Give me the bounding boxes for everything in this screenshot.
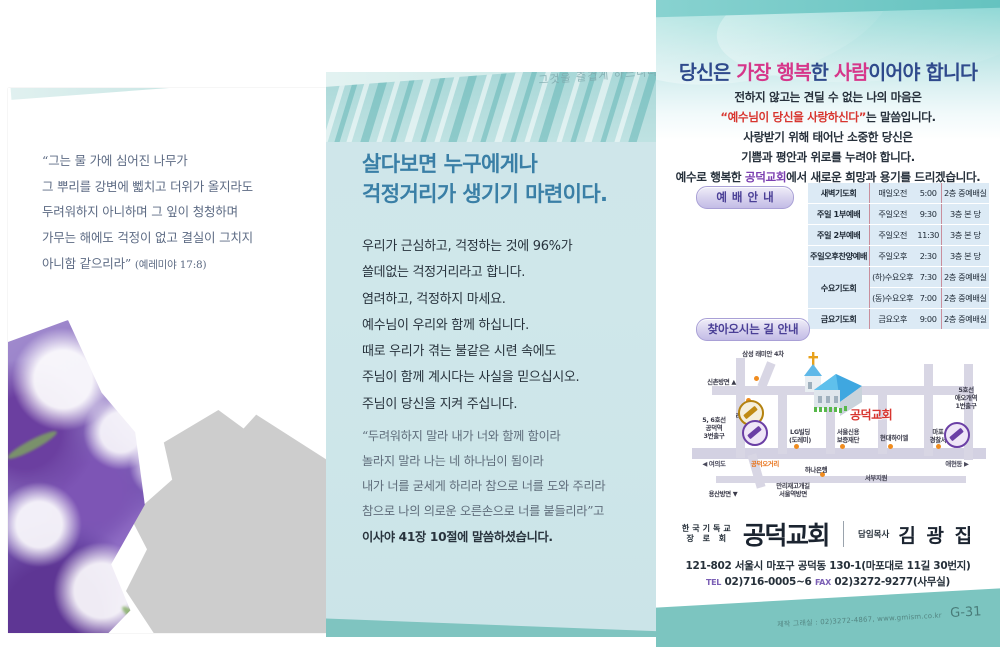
cell-day: 매일오전 [870, 183, 916, 204]
cell-name: 금요기도회 [808, 309, 870, 330]
cell-day: 주일오전 [870, 204, 916, 225]
map-label-credit-guarantee: 서울신용 보증재단 [826, 428, 870, 444]
church-identity-line: 한국기독교 장 로 회 공덕교회 담임목사 김 광 집 [656, 516, 1000, 552]
subway-aeogae-icon [944, 422, 970, 448]
center-bottom-teal-band [326, 618, 656, 637]
church-name: 공덕교회 [743, 516, 829, 552]
center-body-text: 우리가 근심하고, 걱정하는 것에 96%가 쓸데없는 걱정거리라고 합니다. … [362, 234, 648, 418]
cell-name: 주일오후찬양예배 [808, 246, 870, 267]
quote-line: “두려워하지 말라 내가 너와 함께 함이라 [362, 424, 652, 449]
body-line: 우리가 근심하고, 걱정하는 것에 96%가 [362, 234, 648, 260]
subway-line6-icon [742, 420, 768, 446]
map-label-malli: 만리재고개길 서울역방면 [762, 482, 824, 498]
cell-place: 3층 본 당 [941, 204, 988, 225]
verse-line: “그는 물 가에 심어진 나무가 [42, 148, 304, 174]
map-dot [840, 444, 845, 449]
cell-place: 2층 중예배실 [941, 288, 988, 309]
isaiah-quote: “두려워하지 말라 내가 너와 함께 함이라 놀라지 말라 나는 네 하나님이 … [362, 424, 652, 550]
road-diagonal [757, 361, 775, 388]
cell-time: 9:30 [915, 204, 941, 225]
cell-name: 수요기도회 [808, 267, 870, 309]
title-part-1: 당신은 [679, 61, 736, 84]
map-label-aehyeon: 애현동 ▶ [932, 460, 982, 468]
lede-quote-rest: 는 말씀입니다. [866, 110, 936, 124]
cell-time: 9:00 [915, 309, 941, 330]
quote-line: 참으로 나의 의로운 오른손으로 너를 붙들리라”고 [362, 499, 652, 524]
cell-day: (하)수요오후 [870, 267, 916, 288]
cell-place: 2층 중예배실 [941, 183, 988, 204]
left-panel: “그는 물 가에 심어진 나무가 그 뿌리를 강변에 뻷치고 더위가 올지라도 … [8, 88, 326, 633]
map-label-lg: LG빌딩 (도레미) [780, 428, 820, 444]
map-church-label: 공덕교회 [850, 406, 892, 423]
map-badge: 찾아오시는 길 안내 [696, 318, 810, 341]
verse-line-last: 아니함 같으리라” (예레미야 17:8) [42, 251, 304, 277]
cell-name: 주일 1부예배 [808, 204, 870, 225]
cell-time: 5:00 [915, 183, 941, 204]
jeremiah-verse: “그는 물 가에 심어진 나무가 그 뿌리를 강변에 뻷치고 더위가 올지라도 … [42, 148, 304, 276]
center-panel: 그것을 즐겁게 하느니라 살다보면 누구에게나 걱정거리가 생기기 마련이다. … [326, 72, 656, 637]
map-label-gongdeok-station: 5, 6호선 공덕역 3번출구 [692, 416, 738, 440]
cell-time: 11:30 [915, 225, 941, 246]
map-label-yongsan: 용산방면 ▼ [698, 490, 748, 498]
fax-label: FAX [815, 578, 831, 587]
headline-line-1: 살다보면 누구에게나 [362, 150, 642, 180]
road-vertical-right [964, 364, 973, 460]
map-label-sinchon: 신촌방면 ▲ [692, 378, 736, 386]
verse-line: 두려워하지 아니하며 그 잎이 청청하며 [42, 199, 304, 225]
map-label-seobu: 서부지원 [854, 474, 898, 482]
map-dot [794, 444, 799, 449]
body-line: 쓸데없는 걱정거리라고 합니다. [362, 260, 648, 286]
cell-time: 2:30 [915, 246, 941, 267]
body-line: 주님이 당신을 지켜 주십니다. [362, 392, 648, 418]
cell-place: 2층 중예배실 [941, 309, 988, 330]
body-line: 염려하고, 걱정하지 마세요. [362, 287, 648, 313]
credit-code: G-31 [950, 604, 982, 621]
map-dot [754, 376, 759, 381]
lede-5a: 예수로 행복한 [676, 170, 745, 184]
map-dot [936, 444, 941, 449]
cell-name: 새벽기도회 [808, 183, 870, 204]
cell-time: 7:00 [915, 288, 941, 309]
title-part-4: 사람 [834, 61, 868, 84]
cell-day: 주일오후 [870, 246, 916, 267]
table-row: 주일 2부예배 주일오전 11:30 3층 본 당 [808, 225, 989, 246]
quote-line: 내가 너를 굳세게 하리라 참으로 너를 도와 주리라 [362, 474, 652, 499]
verse-reference: (예레미야 17:8) [135, 259, 207, 271]
title-part-5: 이어야 합니다 [868, 61, 977, 84]
worship-schedule-table: 새벽기도회 매일오전 5:00 2층 중예배실 주일 1부예배 주일오전 9:3… [808, 183, 989, 329]
schedule-badge: 예배안내 [696, 186, 794, 209]
left-top-teal-band [8, 88, 326, 100]
cell-time: 7:30 [915, 267, 941, 288]
body-line: 주님이 함께 계시다는 사실을 믿으십시오. [362, 365, 648, 391]
center-headline: 살다보면 누구에게나 걱정거리가 생기기 마련이다. [362, 150, 642, 210]
map-label-gongdeok-intersection: 공덕오거리 [734, 460, 796, 468]
verse-line: 그 뿌리를 강변에 뻷치고 더위가 올지라도 [42, 174, 304, 200]
divider [843, 521, 844, 547]
right-headline: 당신은 가장 행복한 사람이어야 합니다 [656, 56, 1000, 85]
table-row: 새벽기도회 매일오전 5:00 2층 중예배실 [808, 183, 989, 204]
headline-line-2: 걱정거리가 생기기 마련이다. [362, 180, 642, 210]
lede-quote: “예수님이 당신을 사랑하신다” [720, 110, 866, 124]
church-name-inline: 공덕교회 [745, 170, 786, 184]
lede-line-3: 사랑받기 위해 태어난 소중한 당신은 [656, 128, 1000, 148]
left-gray-shape [126, 410, 326, 633]
fax-number: 02)3272-9277(사무실) [834, 576, 950, 588]
right-panel: 당신은 가장 행복한 사람이어야 합니다 전하지 않고는 견딜 수 없는 나의 … [656, 0, 1000, 647]
cell-day: (동)수요오후 [870, 288, 916, 309]
title-part-3: 한 [811, 61, 834, 84]
title-part-2: 가장 행복 [736, 61, 811, 84]
map-label-hyundai: 현대하이엘 [872, 434, 916, 442]
tel-label: TEL [706, 578, 721, 587]
table-row: 주일오후찬양예배 주일오후 2:30 3층 본 당 [808, 246, 989, 267]
pastor-role: 담임목사 [858, 528, 889, 540]
location-map: 공덕교회 삼성 래미안 4차 신촌방면 ▲ 삼성 래미앓3차 5, 6호선 공덕… [692, 344, 986, 504]
table-row: 금요기도회 금요오후 9:00 2층 중예배실 [808, 309, 989, 330]
tel-number: 02)716-0005~6 [724, 576, 811, 588]
quote-attribution: 이사야 41장 10절에 말씀하셨습니다. [362, 525, 652, 550]
map-dot [888, 444, 893, 449]
denomination-line-2: 장 로 회 [682, 534, 734, 544]
cell-place: 2층 중예배실 [941, 267, 988, 288]
lede-line-1: 전하지 않고는 견딜 수 없는 나의 마음은 [656, 88, 1000, 108]
cell-day: 금요오후 [870, 309, 916, 330]
lede-line-2: “예수님이 당신을 사랑하신다”는 말씀입니다. [656, 108, 1000, 128]
verse-line: 가무는 해에도 걱정이 없고 결실이 그치지 [42, 225, 304, 251]
brochure-canvas: “그는 물 가에 심어진 나무가 그 뿌리를 강변에 뻷치고 더위가 올지라도 … [0, 0, 1000, 647]
cell-name: 주일 2부예배 [808, 225, 870, 246]
cell-place: 3층 본 당 [941, 246, 988, 267]
church-address: 121-802 서울시 마포구 공덕동 130-1(마포대로 11길 30번지) [656, 558, 1000, 573]
table-row: 주일 1부예배 주일오전 9:30 3층 본 당 [808, 204, 989, 225]
body-line: 예수님이 우리와 함께 하십니다. [362, 313, 648, 339]
denomination: 한국기독교 장 로 회 [682, 524, 734, 544]
body-line: 때로 우리가 겪는 불같은 시련 속에도 [362, 339, 648, 365]
pastor-name: 김 광 집 [898, 521, 974, 548]
denomination-line-1: 한국기독교 [682, 524, 734, 534]
map-label-yeouido: ◀ 여의도 [692, 460, 736, 468]
quote-line: 놀라지 말라 나는 네 하나님이 됨이라 [362, 449, 652, 474]
church-contact: TEL 02)716-0005~6 FAX 02)3272-9277(사무실) [656, 574, 1000, 589]
map-label-aeogae: 5호선 애오개역 1번출구 [944, 386, 986, 410]
cell-place: 3층 본 당 [941, 225, 988, 246]
map-label-samsung4: 삼성 래미안 4차 [728, 350, 798, 358]
cell-day: 주일오전 [870, 225, 916, 246]
map-label-hana-bank: 하나은행 [794, 466, 838, 474]
verse-text: 아니함 같으리라” [42, 256, 131, 271]
lede-5b: 에서 새로운 희망과 용기를 드리겠습니다. [786, 170, 980, 184]
lede-line-4: 기쁨과 평안과 위로를 누려야 합니다. [656, 148, 1000, 168]
right-lede: 전하지 않고는 견딜 수 없는 나의 마음은 “예수님이 당신을 사랑하신다”는… [656, 88, 1000, 188]
table-row: 수요기도회 (하)수요오후 7:30 2층 중예배실 [808, 267, 989, 288]
